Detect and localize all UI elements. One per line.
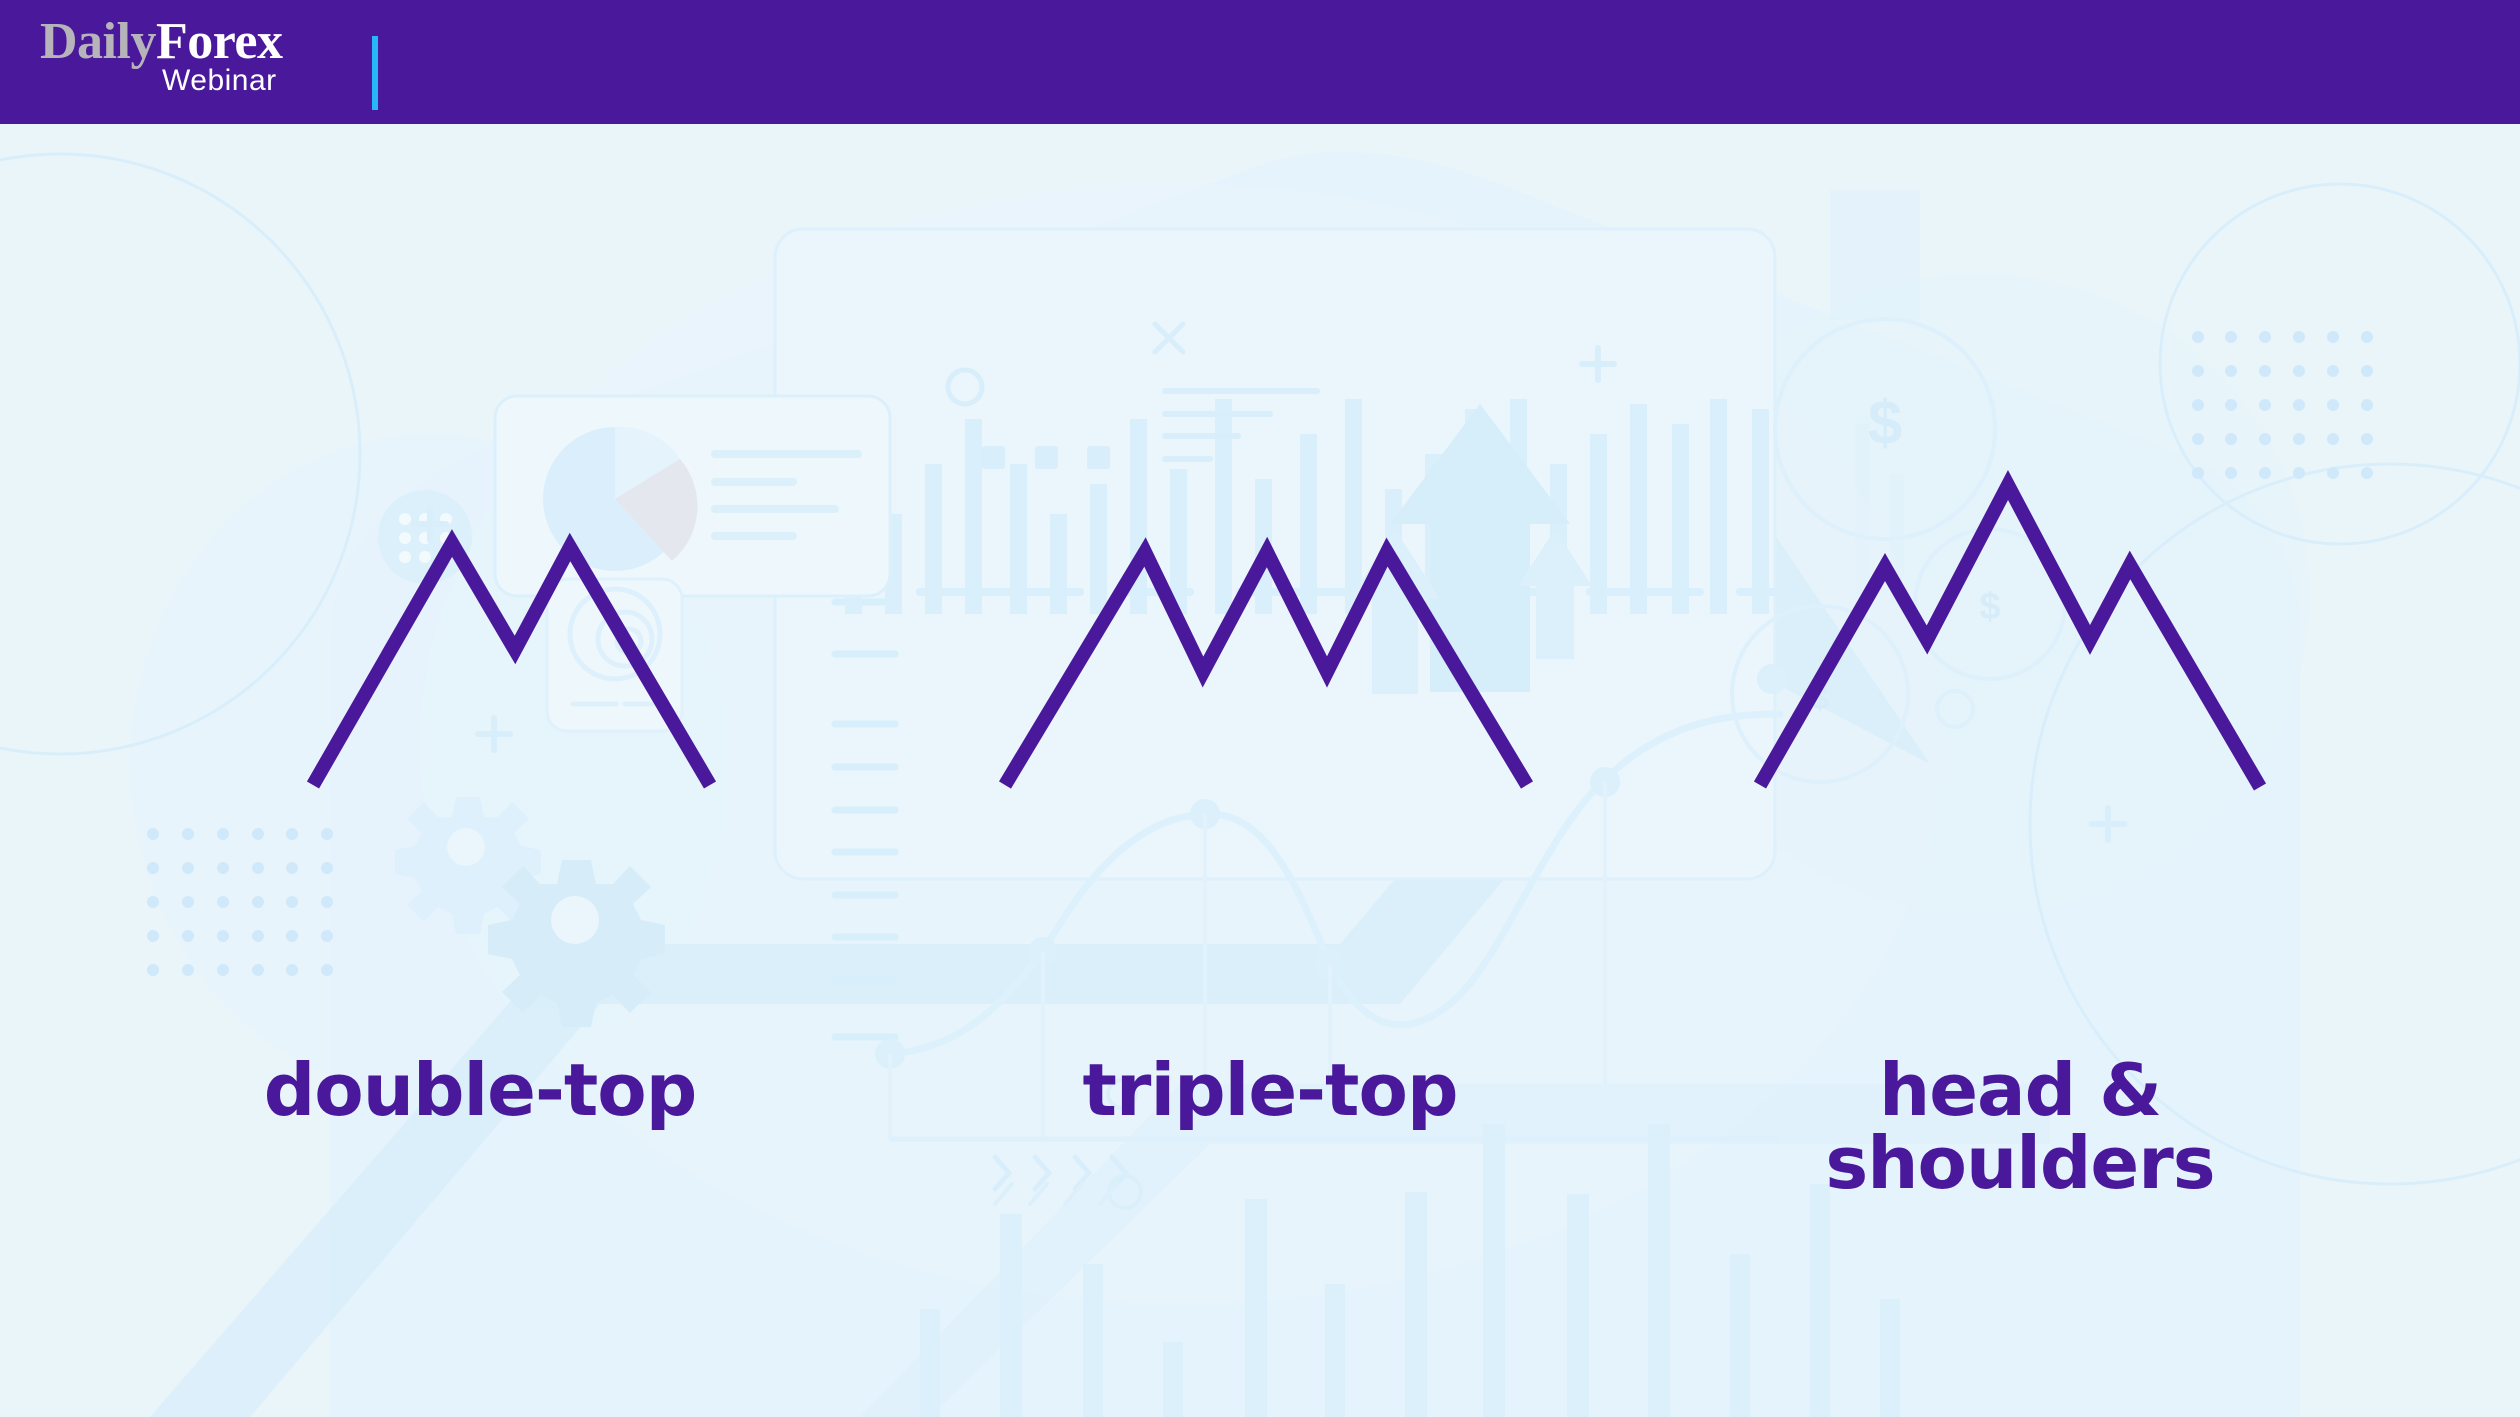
logo-wordmark: DailyForex <box>40 16 282 68</box>
pattern-line-triple-top <box>1005 552 1527 785</box>
pattern-line-double-top <box>313 543 710 785</box>
slide-root: DailyForex Webinar <box>0 0 2520 1417</box>
pattern-label-head-shoulders: head & shoulders <box>1760 1054 2280 1201</box>
logo-brand-second: Forex <box>156 13 282 70</box>
brand-logo[interactable]: DailyForex Webinar <box>40 12 340 112</box>
pattern-line-head-shoulders <box>1760 485 2260 787</box>
header-bar: DailyForex Webinar <box>0 0 2520 124</box>
logo-brand-first: Daily <box>40 13 156 70</box>
pattern-label-triple-top: triple-top <box>1000 1054 1540 1127</box>
pattern-lines-layer <box>0 124 2520 1417</box>
pattern-label-double-top: double-top <box>180 1054 780 1127</box>
slide-canvas: $ $ $ <box>0 124 2520 1417</box>
logo-subtitle: Webinar <box>162 66 277 96</box>
logo-divider-bar <box>372 36 378 110</box>
